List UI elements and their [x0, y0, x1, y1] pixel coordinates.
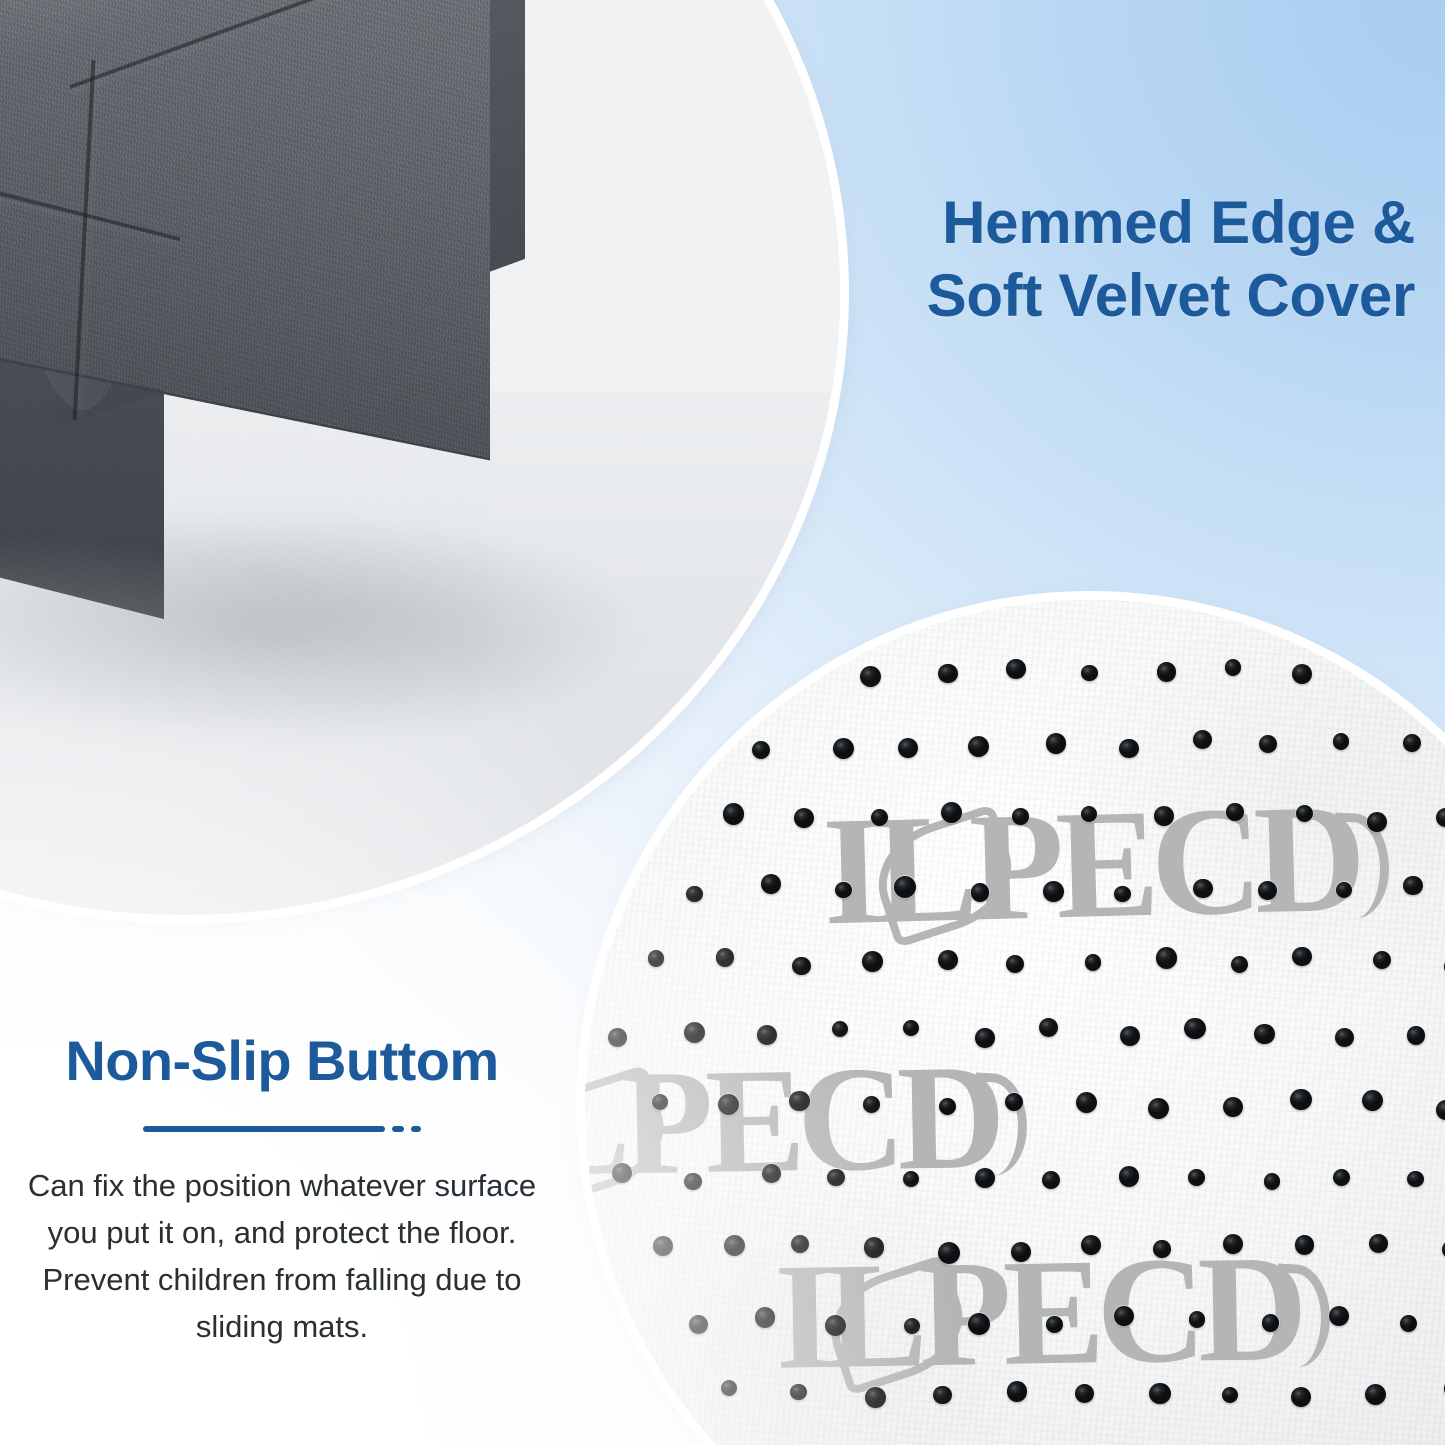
anti-slip-dot	[1153, 1240, 1171, 1258]
anti-slip-dot	[863, 1096, 880, 1113]
anti-slip-dot	[1119, 739, 1139, 759]
anti-slip-dot	[1154, 806, 1174, 826]
anti-slip-dot	[1007, 1381, 1028, 1402]
anti-slip-dot	[1295, 1235, 1314, 1254]
anti-slip-dot	[1114, 886, 1131, 903]
heading-line-2: Soft Velvet Cover	[927, 259, 1415, 332]
anti-slip-dot	[1184, 1018, 1206, 1040]
non-slip-text-block: Non-Slip Buttom Can fix the position wha…	[22, 1030, 542, 1350]
anti-slip-dot	[755, 1307, 776, 1328]
anti-slip-dot	[827, 1169, 845, 1187]
anti-slip-dot	[894, 876, 916, 898]
anti-slip-dot	[1291, 1387, 1312, 1408]
anti-slip-dot	[686, 886, 703, 903]
anti-slip-dot	[648, 950, 664, 966]
anti-slip-dot	[1258, 881, 1277, 900]
anti-slip-dot	[1157, 662, 1177, 682]
anti-slip-dot	[792, 957, 811, 976]
anti-slip-dot	[689, 1315, 708, 1334]
anti-slip-dot	[1292, 664, 1312, 684]
anti-slip-dot	[975, 1028, 995, 1048]
divider-dash-2	[411, 1126, 421, 1132]
anti-slip-dot	[1336, 882, 1352, 898]
anti-slip-dot	[1367, 812, 1387, 832]
anti-slip-dot	[938, 1242, 960, 1264]
anti-slip-dot	[684, 1022, 705, 1043]
anti-slip-dot	[1120, 1026, 1141, 1047]
anti-slip-dot	[1329, 1306, 1349, 1326]
anti-slip-dot	[1076, 1092, 1097, 1113]
anti-slip-dot	[903, 1171, 919, 1187]
anti-slip-dot	[1189, 1311, 1206, 1328]
anti-slip-dot	[904, 1318, 920, 1334]
anti-slip-dot	[832, 1021, 848, 1037]
anti-slip-dot	[757, 1025, 777, 1045]
anti-slip-dot	[871, 809, 888, 826]
heading-line-1: Hemmed Edge &	[927, 186, 1415, 259]
anti-slip-dot	[1223, 1234, 1243, 1254]
anti-slip-dot	[971, 883, 990, 902]
anti-slip-dot	[1081, 665, 1098, 682]
body-non-slip: Can fix the position whatever surface yo…	[22, 1162, 542, 1350]
anti-slip-dot	[752, 741, 770, 759]
anti-slip-dot	[835, 882, 851, 898]
anti-slip-dot	[1231, 956, 1249, 974]
anti-slip-dot	[1407, 1171, 1424, 1188]
anti-slip-dot	[865, 1387, 886, 1408]
anti-slip-dot	[1081, 806, 1097, 822]
anti-slip-dot	[1043, 881, 1064, 902]
anti-slip-dot	[762, 1164, 781, 1183]
anti-slip-dot	[941, 802, 963, 824]
anti-slip-dot	[1011, 1242, 1032, 1263]
anti-slip-dot	[723, 803, 745, 825]
anti-slip-dot	[968, 1313, 990, 1335]
anti-slip-dot	[898, 738, 918, 758]
anti-slip-dot	[1156, 947, 1178, 969]
anti-slip-dot	[864, 1237, 885, 1258]
anti-slip-dot	[1436, 1100, 1445, 1120]
anti-slip-dot	[608, 1028, 627, 1047]
anti-slip-dot	[1296, 805, 1313, 822]
anti-slip-dot	[903, 1020, 919, 1036]
anti-slip-dot	[1223, 1097, 1243, 1117]
anti-slip-dot	[1407, 1026, 1426, 1045]
heading-hemmed-edge: Hemmed Edge & Soft Velvet Cover	[927, 186, 1415, 332]
anti-slip-dot	[724, 1235, 745, 1256]
anti-slip-dot	[1193, 730, 1212, 749]
anti-slip-dot	[1046, 1316, 1063, 1333]
anti-slip-dot	[761, 874, 782, 895]
anti-slip-dot	[1254, 1024, 1275, 1045]
anti-slip-dot	[825, 1315, 846, 1336]
anti-slip-dot	[860, 666, 881, 687]
anti-slip-dot	[1012, 808, 1029, 825]
anti-slip-dot	[1259, 735, 1277, 753]
anti-slip-dot	[1085, 954, 1102, 971]
anti-slip-dot	[721, 1380, 737, 1396]
anti-slip-dot	[1046, 733, 1067, 754]
anti-slip-dot	[1006, 659, 1026, 679]
anti-slip-dot	[862, 951, 883, 972]
anti-slip-dot	[1335, 1028, 1354, 1047]
anti-slip-dot	[1149, 1383, 1171, 1405]
anti-slip-dot	[833, 738, 855, 760]
divider-dash-1	[392, 1126, 404, 1132]
anti-slip-dot	[1193, 879, 1213, 899]
anti-slip-dot	[612, 1163, 632, 1183]
anti-slip-dot	[1188, 1169, 1205, 1186]
anti-slip-dot	[1403, 876, 1422, 895]
anti-slip-dot	[938, 950, 958, 970]
anti-slip-dot	[938, 664, 958, 684]
anti-slip-dot	[1006, 955, 1024, 973]
anti-slip-dot	[1005, 1093, 1023, 1111]
anti-slip-dot	[939, 1098, 956, 1115]
anti-slip-dot	[1290, 1089, 1311, 1110]
anti-slip-dot	[968, 736, 989, 757]
anti-slip-dot	[1262, 1314, 1279, 1331]
anti-slip-dot	[1403, 734, 1422, 753]
anti-slip-dot	[1119, 1166, 1140, 1187]
divider-bar	[143, 1126, 385, 1132]
divider	[22, 1126, 542, 1132]
anti-slip-dots	[585, 600, 1445, 1445]
anti-slip-dot	[1148, 1098, 1169, 1119]
anti-slip-dot	[684, 1173, 702, 1191]
anti-slip-dot	[790, 1384, 807, 1401]
anti-slip-dot	[718, 1094, 739, 1115]
anti-slip-dot	[1042, 1171, 1060, 1189]
marketing-image-canvas: ILPECD ILPECD ILPECD Hemmed Edge & Soft …	[0, 0, 1445, 1445]
anti-slip-dot	[789, 1091, 810, 1112]
anti-slip-dot	[1039, 1018, 1058, 1037]
anti-slip-dot	[1365, 1384, 1386, 1405]
anti-slip-dot	[1292, 947, 1312, 967]
anti-slip-dot	[716, 948, 734, 966]
anti-slip-dot	[1333, 733, 1350, 750]
anti-slip-dot	[933, 1386, 952, 1405]
anti-slip-dot	[1075, 1384, 1095, 1404]
non-slip-mat-photo: ILPECD ILPECD ILPECD	[585, 600, 1445, 1445]
anti-slip-dot	[794, 808, 814, 828]
mat-scene: ILPECD ILPECD ILPECD	[585, 600, 1445, 1445]
anti-slip-dot	[1373, 951, 1392, 970]
heading-non-slip: Non-Slip Buttom	[22, 1030, 542, 1092]
anti-slip-dot	[1226, 803, 1244, 821]
anti-slip-dot	[1400, 1315, 1417, 1332]
anti-slip-dot	[791, 1235, 809, 1253]
anti-slip-dot	[652, 1094, 668, 1110]
anti-slip-dot	[975, 1168, 995, 1188]
anti-slip-dot	[1264, 1173, 1281, 1190]
anti-slip-dot	[1225, 659, 1241, 675]
anti-slip-dot	[1362, 1090, 1383, 1111]
anti-slip-dot	[1222, 1387, 1238, 1403]
anti-slip-dot	[653, 1236, 673, 1256]
cushion-body	[0, 0, 490, 720]
anti-slip-dot	[1369, 1234, 1388, 1253]
anti-slip-dot	[1081, 1235, 1101, 1255]
anti-slip-dot	[1436, 808, 1445, 828]
anti-slip-dot	[1333, 1169, 1351, 1187]
anti-slip-dot	[1114, 1306, 1134, 1326]
